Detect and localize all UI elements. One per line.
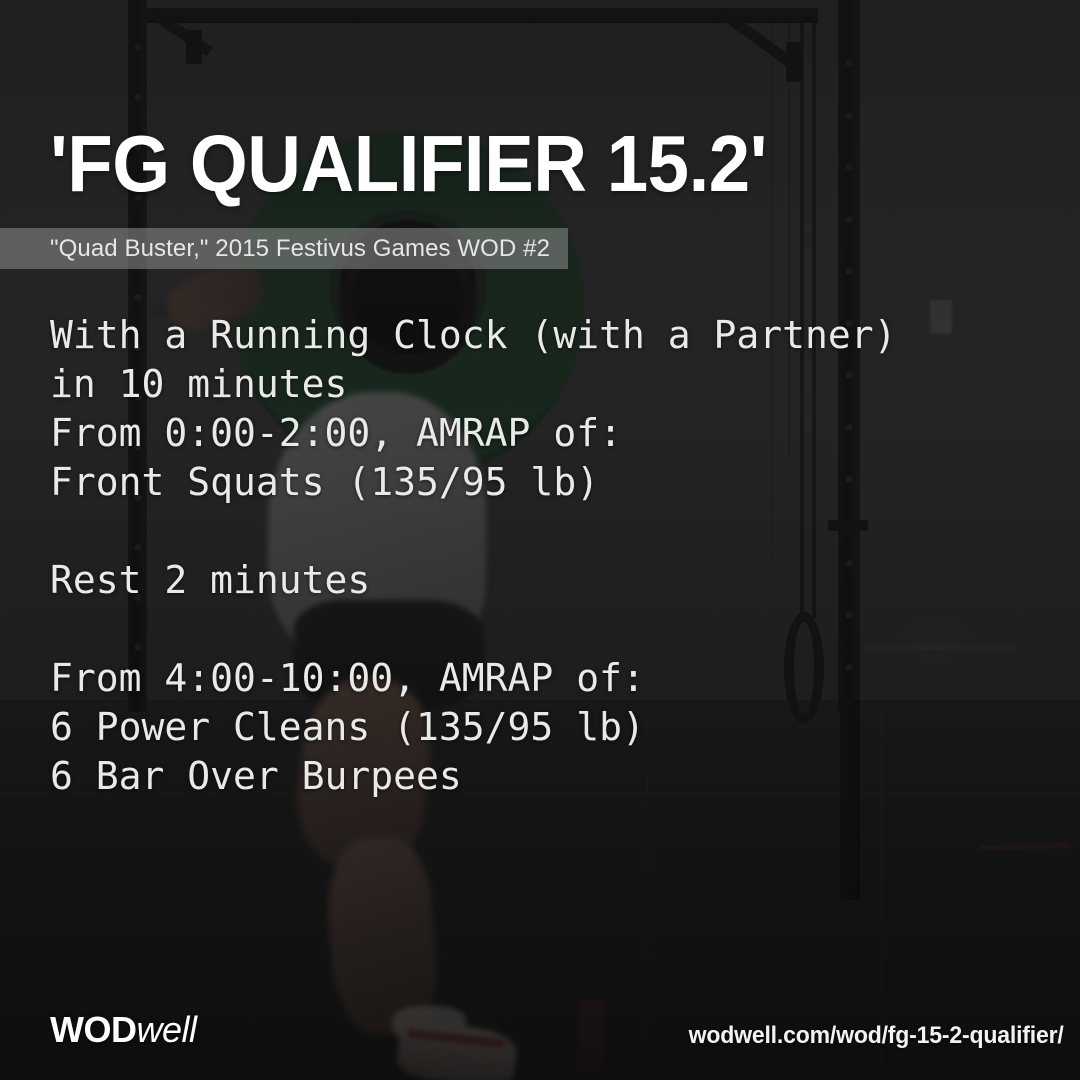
logo-well-text: well [136,1009,196,1050]
logo-wod-text: WOD [50,1009,136,1050]
card-content: 'FG QUALIFIER 15.2' "Quad Buster," 2015 … [0,0,1080,1080]
wod-subtitle-band: "Quad Buster," 2015 Festivus Games WOD #… [0,228,568,269]
wod-description: With a Running Clock (with a Partner) in… [50,311,950,801]
wod-title: 'FG QUALIFIER 15.2' [50,124,767,204]
wod-url[interactable]: wodwell.com/wod/fg-15-2-qualifier/ [689,1022,1064,1050]
wod-subtitle: "Quad Buster," 2015 Festivus Games WOD #… [50,235,550,263]
wod-card: 'FG QUALIFIER 15.2' "Quad Buster," 2015 … [0,0,1080,1080]
wodwell-logo[interactable]: WODwell [50,1012,197,1048]
